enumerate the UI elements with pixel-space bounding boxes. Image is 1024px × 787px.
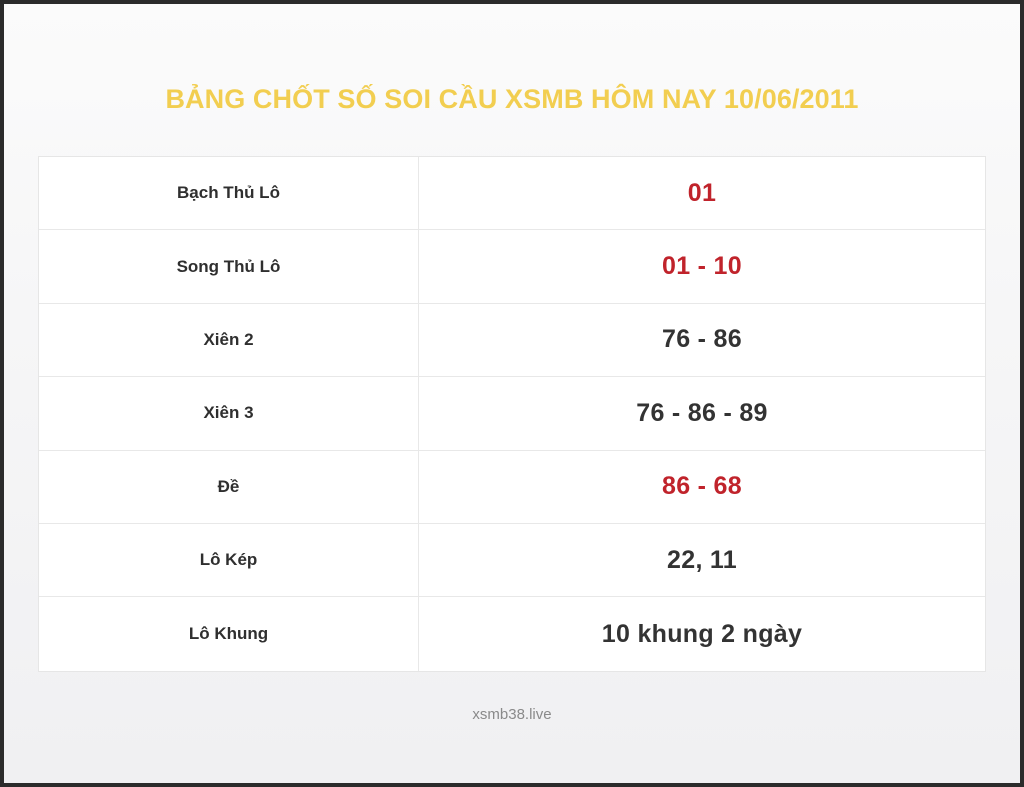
row-value-lo-kep: 22, 11: [419, 524, 985, 596]
table-row: Đề 86 - 68: [39, 451, 985, 524]
page-frame: BẢNG CHỐT SỐ SOI CẦU XSMB HÔM NAY 10/06/…: [4, 4, 1020, 783]
row-value-song-thu-lo: 01 - 10: [419, 230, 985, 302]
row-label-xien-2: Xiên 2: [39, 304, 419, 376]
row-value-de: 86 - 68: [419, 451, 985, 523]
row-value-bach-thu-lo: 01: [419, 157, 985, 229]
row-value-xien-2: 76 - 86: [419, 304, 985, 376]
page-title: BẢNG CHỐT SỐ SOI CẦU XSMB HÔM NAY 10/06/…: [4, 84, 1020, 115]
row-label-de: Đề: [39, 451, 419, 523]
table-row: Lô Kép 22, 11: [39, 524, 985, 597]
row-value-lo-khung: 10 khung 2 ngày: [419, 597, 985, 670]
row-label-lo-khung: Lô Khung: [39, 597, 419, 670]
page-background: BẢNG CHỐT SỐ SOI CẦU XSMB HÔM NAY 10/06/…: [4, 4, 1020, 783]
row-label-bach-thu-lo: Bạch Thủ Lô: [39, 157, 419, 229]
row-label-song-thu-lo: Song Thủ Lô: [39, 230, 419, 302]
row-value-xien-3: 76 - 86 - 89: [419, 377, 985, 449]
prediction-table: Bạch Thủ Lô 01 Song Thủ Lô 01 - 10 Xiên …: [38, 156, 986, 672]
footer-site-name: xsmb38.live: [4, 706, 1020, 723]
table-row: Xiên 2 76 - 86: [39, 304, 985, 377]
table-row: Lô Khung 10 khung 2 ngày: [39, 597, 985, 670]
table-row: Bạch Thủ Lô 01: [39, 157, 985, 230]
table-row: Song Thủ Lô 01 - 10: [39, 230, 985, 303]
row-label-lo-kep: Lô Kép: [39, 524, 419, 596]
row-label-xien-3: Xiên 3: [39, 377, 419, 449]
table-row: Xiên 3 76 - 86 - 89: [39, 377, 985, 450]
